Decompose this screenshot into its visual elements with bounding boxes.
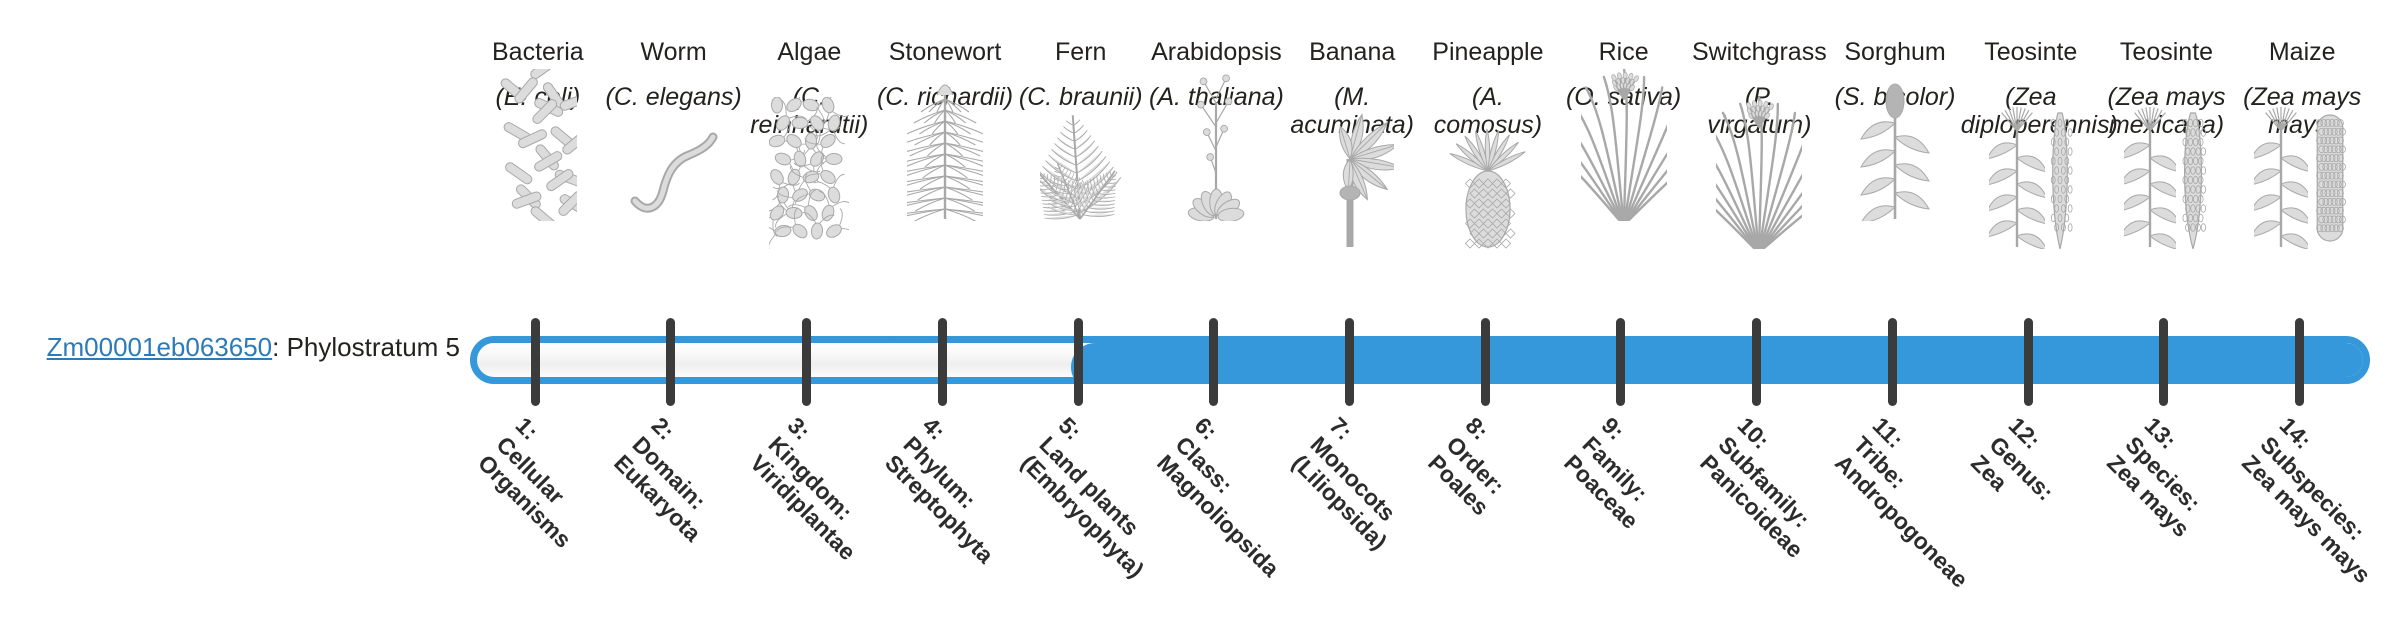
species-common-name: Bacteria <box>492 38 584 66</box>
species-common-name: Fern <box>1055 38 1106 66</box>
species-column-banana-7: Banana(M. acuminata) <box>1284 0 1420 249</box>
species-common-name: Banana <box>1309 38 1395 66</box>
species-column-teosinte-12: Teosinte(Zea diploperennis) <box>1963 0 2099 249</box>
species-common-name: Sorghum <box>1844 38 1945 66</box>
species-common-name: Teosinte <box>2120 38 2213 66</box>
species-column-rice-9: Rice(O. sativa) <box>1556 0 1692 221</box>
species-column-sorghum-11: Sorghum(S. bicolor) <box>1827 0 1963 221</box>
phylostratum-bar <box>470 336 2370 384</box>
species-common-name: Switchgrass <box>1692 38 1827 66</box>
species-column-maize-14: Maize(Zea mays mays) <box>2234 0 2370 249</box>
banana-illustration <box>1310 149 1394 249</box>
stonewort-illustration <box>907 121 983 221</box>
bar-track <box>470 336 2370 384</box>
species-common-name: Algae <box>777 38 841 66</box>
species-column-switchgrass-10: Switchgrass(P. virgatum) <box>1691 0 1827 249</box>
species-column-algae-3: Algae(C. reinhardtii) <box>741 0 877 249</box>
sorghum-illustration <box>1855 121 1935 221</box>
arabidopsis-illustration <box>1176 121 1256 221</box>
rice-illustration <box>1581 121 1667 221</box>
species-common-name: Arabidopsis <box>1151 38 1282 66</box>
teosinte-ear-illustration <box>2124 149 2208 249</box>
species-common-name: Stonewort <box>889 38 1002 66</box>
species-column-arabidopsis-6: Arabidopsis(A. thaliana) <box>1149 0 1285 221</box>
phylostratum-timeline-figure: Zm00001eb063650: Phylostratum 5 Bacteria… <box>0 0 2400 580</box>
species-column-teosinte-13: Teosinte(Zea mays mexicana) <box>2099 0 2235 249</box>
species-columns: Bacteria(E. coli)Worm(C. elegans)Algae(C… <box>470 0 2370 310</box>
fern-illustration <box>1040 121 1122 221</box>
pineapple-illustration <box>1448 149 1528 249</box>
rank-labels: 1:CellularOrganisms2:Domain:Eukaryota3:K… <box>470 412 2370 580</box>
species-column-pineapple-8: Pineapple(A. comosus) <box>1420 0 1556 249</box>
species-scientific-name: (C. elegans) <box>606 83 742 111</box>
species-common-name: Pineapple <box>1432 38 1543 66</box>
bar-fill <box>1071 343 2370 384</box>
species-common-name: Teosinte <box>1984 38 2077 66</box>
species-column-worm-2: Worm(C. elegans) <box>606 0 742 221</box>
species-column-bacteria-1: Bacteria(E. coli) <box>470 0 606 221</box>
species-column-fern-5: Fern(C. braunii) <box>1013 0 1149 221</box>
bacteria-illustration <box>499 121 577 221</box>
nematode-illustration <box>629 121 719 221</box>
gene-phylostratum-text: : Phylostratum 5 <box>272 332 460 362</box>
teosinte-illustration <box>1989 149 2073 249</box>
species-common-name: Worm <box>640 38 706 66</box>
algae-illustration <box>769 149 849 249</box>
gene-caption: Zm00001eb063650: Phylostratum 5 <box>40 333 460 362</box>
species-common-name: Rice <box>1599 38 1649 66</box>
gene-accession-link[interactable]: Zm00001eb063650 <box>47 332 273 362</box>
species-column-stonewort-4: Stonewort(C. richardii) <box>877 0 1013 221</box>
maize-illustration <box>2254 149 2350 249</box>
species-common-name: Maize <box>2269 38 2336 66</box>
switchgrass-illustration <box>1716 149 1802 249</box>
